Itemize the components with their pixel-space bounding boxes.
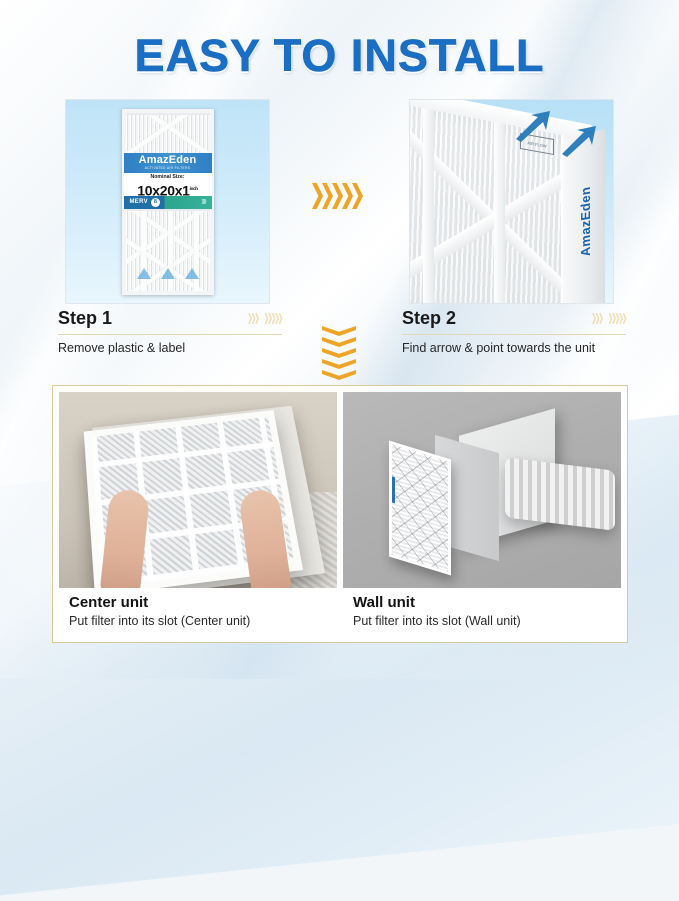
- page-title: EASY TO INSTALL: [0, 30, 679, 82]
- brand-bar: AmazEden ACTIVATED AIR FILTERS: [124, 153, 212, 173]
- step1-description: Remove plastic & label: [58, 341, 282, 355]
- filter-brace: [494, 103, 505, 304]
- chevron-right-icon: [255, 313, 259, 324]
- merv-label: MERV: [130, 199, 148, 205]
- chevron-group: [592, 313, 603, 324]
- pleat-webbing-top: [126, 113, 210, 153]
- chevron-right-icon: [272, 313, 276, 324]
- brand-name: AmazEden: [139, 155, 197, 166]
- step1-chevrons: [248, 313, 282, 324]
- center-unit-example: Center unit Put filter into its slot (Ce…: [59, 392, 337, 636]
- wall-unit-caption: Wall unit Put filter into its slot (Wall…: [343, 588, 621, 628]
- chevron-right-icon: [252, 313, 256, 324]
- chevron-down-icon: [322, 326, 356, 336]
- brand-subtitle: ACTIVATED AIR FILTERS: [145, 166, 191, 171]
- chevron-down-icon: [322, 370, 356, 380]
- step1-caption: Step 1 Remove plastic & label: [58, 308, 282, 355]
- installation-examples-frame: Center unit Put filter into its slot (Ce…: [52, 385, 628, 643]
- filter-3d-render: AmazEden AIR FLOW: [410, 100, 613, 303]
- chevron-right-icon: [265, 313, 269, 324]
- center-unit-photo: [59, 392, 337, 588]
- nominal-size-label: Nominal Size:: [124, 174, 212, 181]
- step2-title: Step 2: [402, 308, 456, 329]
- chevron-right-icon: [332, 183, 343, 209]
- step1-title: Step 1: [58, 308, 112, 329]
- chevron-right-icon: [279, 313, 283, 324]
- chevron-right-icon: [352, 183, 363, 209]
- step2-description: Find arrow & point towards the unit: [402, 341, 626, 355]
- airflow-arrow-icon: [185, 268, 199, 279]
- chevron-down-icon: [322, 348, 356, 358]
- chevron-right-icon: [342, 183, 353, 209]
- filter-brace: [423, 103, 434, 304]
- merv-value: 8: [151, 198, 160, 207]
- divider: [402, 334, 626, 335]
- chevron-right-icon: [599, 313, 603, 324]
- chevron-right-icon: [268, 313, 272, 324]
- wall-unit-description: Put filter into its slot (Wall unit): [353, 614, 617, 628]
- chevron-down-icon: [322, 359, 356, 369]
- package-pleats-bottom: [126, 209, 210, 291]
- airflow-arrow-icon: [514, 109, 554, 143]
- merv-badge: MERV 8 )))))): [124, 196, 212, 209]
- airflow-direction-arrows: [132, 268, 204, 279]
- size-unit: inch: [190, 186, 198, 191]
- filter-in-wall-slot: [389, 441, 451, 576]
- chevron-group: [248, 313, 259, 324]
- section-connector-chevrons-down: [322, 326, 356, 381]
- wall-unit-photo: [343, 392, 621, 588]
- chevron-right-icon: [592, 313, 596, 324]
- chevron-down-icon: [322, 337, 356, 347]
- center-unit-caption: Center unit Put filter into its slot (Ce…: [59, 588, 337, 628]
- package-pleats-top: [126, 113, 210, 153]
- step1-image-panel: AmazEden ACTIVATED AIR FILTERS Nominal S…: [65, 99, 270, 304]
- step2-chevrons: [592, 313, 626, 324]
- chevron-right-icon: [596, 313, 600, 324]
- chevron-right-icon: [619, 313, 623, 324]
- package-label: AmazEden ACTIVATED AIR FILTERS Nominal S…: [124, 153, 212, 209]
- center-unit-title: Center unit: [69, 594, 333, 611]
- step-connector-chevrons-right: [312, 183, 362, 209]
- step2-caption: Step 2 Find arrow & point towards the un…: [402, 308, 626, 355]
- chevron-right-icon: [616, 313, 620, 324]
- filter-package: AmazEden ACTIVATED AIR FILTERS Nominal S…: [122, 109, 214, 295]
- airflow-arrow-icon: [161, 268, 175, 279]
- chevron-right-icon: [248, 313, 252, 324]
- chevron-right-icon: [609, 313, 613, 324]
- chevron-right-icon: [623, 313, 627, 324]
- airflow-arrow-icon: [137, 268, 151, 279]
- filter-mesh: [392, 444, 448, 571]
- side-brand-name: AmazEden: [578, 186, 593, 258]
- chevron-right-icon: [612, 313, 616, 324]
- step2-image-panel: AmazEden AIR FLOW: [409, 99, 614, 304]
- chevron-right-icon: [275, 313, 279, 324]
- chevron-right-icon: [322, 183, 333, 209]
- merv-dots: )))))): [202, 199, 206, 205]
- chevron-group: [609, 313, 627, 324]
- wall-unit-title: Wall unit: [353, 594, 617, 611]
- filter-label-tag: [390, 476, 395, 504]
- wall-unit-example: Wall unit Put filter into its slot (Wall…: [343, 392, 621, 636]
- divider: [58, 334, 282, 335]
- chevron-group: [265, 313, 283, 324]
- center-unit-description: Put filter into its slot (Center unit): [69, 614, 333, 628]
- chevron-right-icon: [312, 183, 323, 209]
- airflow-arrow-icon: [560, 124, 600, 158]
